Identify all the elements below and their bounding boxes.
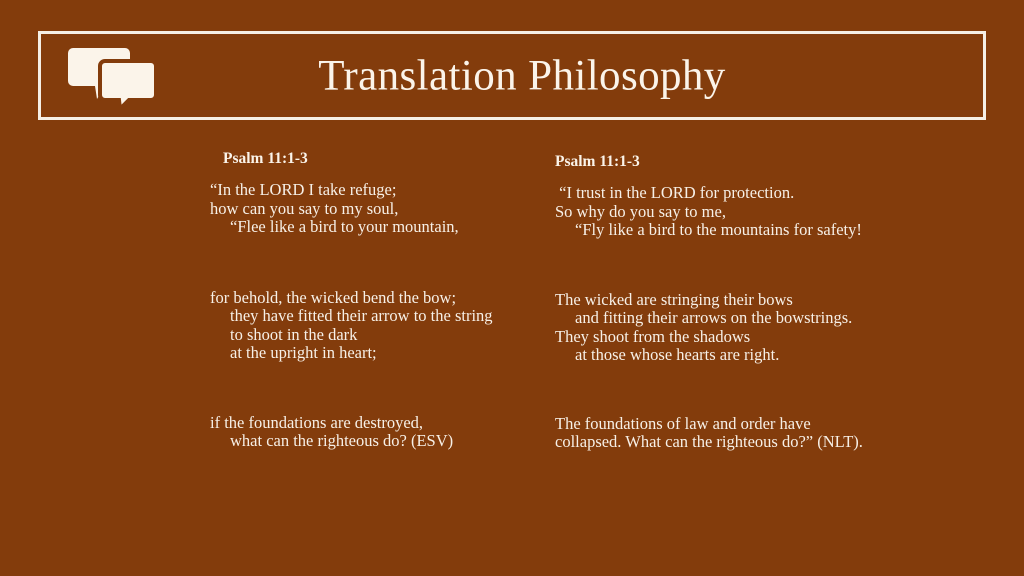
verse-line: how can you say to my soul,: [210, 200, 530, 219]
verse-line: “In the LORD I take refuge;: [210, 181, 530, 200]
verse-line: and fitting their arrows on the bowstrin…: [555, 309, 893, 328]
esv-stanza-3: if the foundations are destroyed, what c…: [210, 414, 530, 451]
slide-canvas: Translation Philosophy Psalm 11:1-3 “In …: [0, 0, 1024, 576]
page-title: Translation Philosophy: [41, 54, 983, 97]
verse-line: They shoot from the shadows: [555, 328, 893, 347]
verse-line: “Fly like a bird to the mountains for sa…: [555, 221, 893, 240]
verse-line: at the upright in heart;: [210, 344, 530, 363]
esv-stanza-1: “In the LORD I take refuge; how can you …: [210, 181, 530, 237]
nlt-stanza-3: The foundations of law and order have co…: [555, 415, 893, 452]
verse-reference-esv: Psalm 11:1-3: [223, 151, 530, 167]
verse-line: “Flee like a bird to your mountain,: [210, 218, 530, 237]
verse-line: “I trust in the LORD for protection.: [555, 184, 893, 203]
verse-line: for behold, the wicked bend the bow;: [210, 289, 530, 308]
verse-reference-nlt: Psalm 11:1-3: [555, 154, 893, 170]
verse-line: they have fitted their arrow to the stri…: [210, 307, 530, 326]
verse-line: The wicked are stringing their bows: [555, 291, 893, 310]
verse-line: to shoot in the dark: [210, 326, 530, 345]
nlt-stanza-1: “I trust in the LORD for protection. So …: [555, 184, 893, 240]
verse-line: collapsed. What can the righteous do?” (…: [555, 433, 893, 452]
esv-stanza-2: for behold, the wicked bend the bow; the…: [210, 289, 530, 363]
esv-column: Psalm 11:1-3 “In the LORD I take refuge;…: [210, 146, 530, 451]
nlt-column: Psalm 11:1-3 “I trust in the LORD for pr…: [553, 146, 893, 452]
verse-line: So why do you say to me,: [555, 203, 893, 222]
verse-line: if the foundations are destroyed,: [210, 414, 530, 433]
verse-line: The foundations of law and order have: [555, 415, 893, 434]
header-banner: Translation Philosophy: [38, 31, 986, 120]
verse-line: what can the righteous do? (ESV): [210, 432, 530, 451]
header-banner-inner: Translation Philosophy: [41, 34, 983, 117]
verse-line: at those whose hearts are right.: [555, 346, 893, 365]
nlt-stanza-2: The wicked are stringing their bows and …: [555, 291, 893, 365]
